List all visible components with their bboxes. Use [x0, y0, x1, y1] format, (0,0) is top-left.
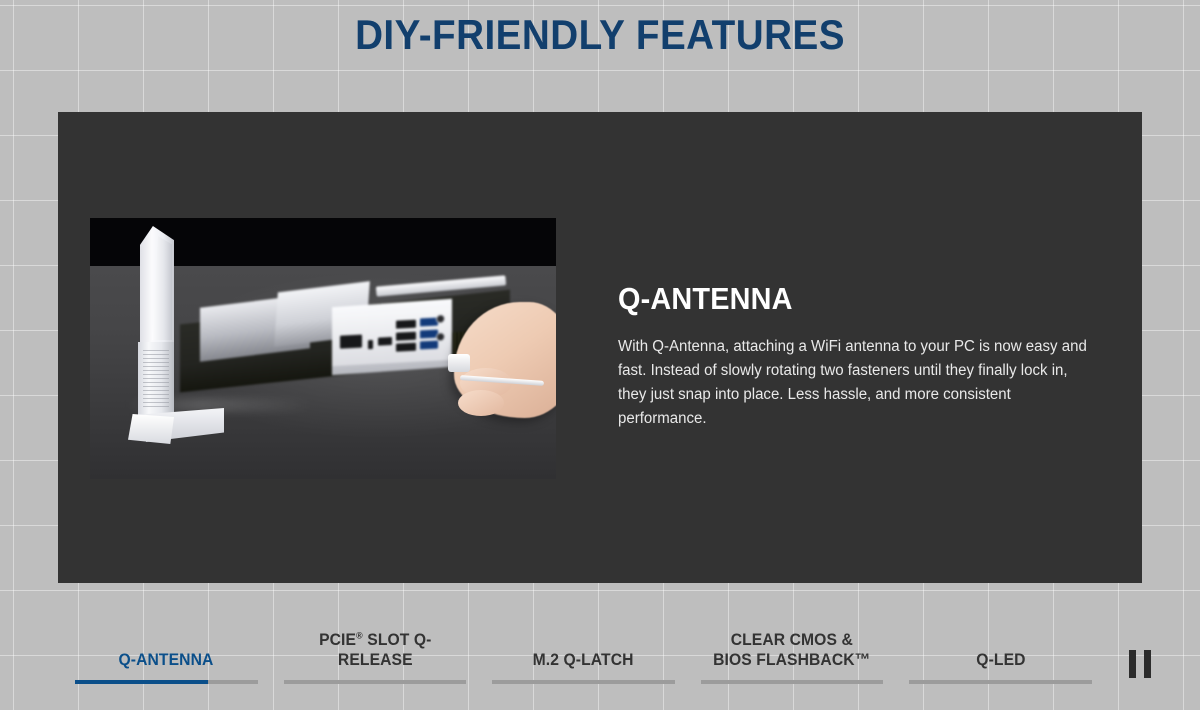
antenna-blade	[140, 226, 174, 344]
tab-m2-q-latch[interactable]: M.2 Q-LATCH	[479, 618, 688, 698]
io-port-usb-a2	[396, 332, 416, 341]
tab-label: PCIE® SLOT Q-RELEASE	[282, 630, 469, 680]
tab-label: M.2 Q-LATCH	[533, 650, 634, 680]
antenna-connector	[448, 354, 470, 372]
io-port-small	[368, 340, 373, 349]
tab-q-antenna[interactable]: Q-ANTENNA	[62, 618, 271, 698]
io-port-displayport	[340, 335, 362, 349]
pause-icon-bar-right	[1144, 650, 1151, 678]
tab-progress-track[interactable]	[284, 680, 467, 684]
tab-clear-cmos-bios-flashback[interactable]: CLEAR CMOS & BIOS FLASHBACK™	[688, 618, 897, 698]
io-port-usb-a3	[396, 343, 416, 352]
feature-tabbar: Q-ANTENNAPCIE® SLOT Q-RELEASEM.2 Q-LATCH…	[0, 618, 1200, 698]
wifi-antenna	[134, 226, 180, 442]
feature-image	[90, 218, 556, 479]
motherboard-io-shield	[332, 308, 450, 366]
page-title: DIY-FRIENDLY FEATURES	[48, 8, 1152, 62]
tab-progress-track[interactable]	[909, 680, 1092, 684]
pause-icon-bar-left	[1129, 650, 1136, 678]
pause-button[interactable]	[1118, 646, 1162, 682]
io-port-usb-blue3	[420, 341, 438, 350]
tab-label: Q-ANTENNA	[119, 650, 214, 680]
feature-description: With Q-Antenna, attaching a WiFi antenna…	[618, 335, 1093, 431]
tab-progress-fill	[75, 680, 208, 684]
tab-progress-track[interactable]	[701, 680, 884, 684]
feature-copy: Q-ANTENNA With Q-Antenna, attaching a Wi…	[618, 280, 1108, 431]
io-antenna-connector-2	[436, 332, 445, 341]
tab-progress-track[interactable]	[492, 680, 675, 684]
tab-q-led[interactable]: Q-LED	[896, 618, 1105, 698]
feature-heading: Q-ANTENNA	[618, 280, 1074, 318]
finger-thumb	[458, 390, 504, 416]
feature-panel: Q-ANTENNA With Q-Antenna, attaching a Wi…	[58, 112, 1142, 583]
io-port-usb-a1	[396, 320, 416, 329]
antenna-base-front	[128, 414, 174, 444]
tab-pcie-slot-q-release[interactable]: PCIE® SLOT Q-RELEASE	[271, 618, 480, 698]
antenna-blade-facet	[152, 236, 172, 340]
io-port-hdmi	[378, 337, 392, 346]
tab-label: CLEAR CMOS & BIOS FLASHBACK™	[713, 630, 870, 680]
tab-list: Q-ANTENNAPCIE® SLOT Q-RELEASEM.2 Q-LATCH…	[62, 618, 1105, 698]
tab-label: Q-LED	[976, 650, 1025, 680]
io-antenna-connector-1	[436, 314, 445, 323]
tab-progress-track[interactable]	[75, 680, 258, 684]
antenna-ribs	[143, 350, 169, 408]
